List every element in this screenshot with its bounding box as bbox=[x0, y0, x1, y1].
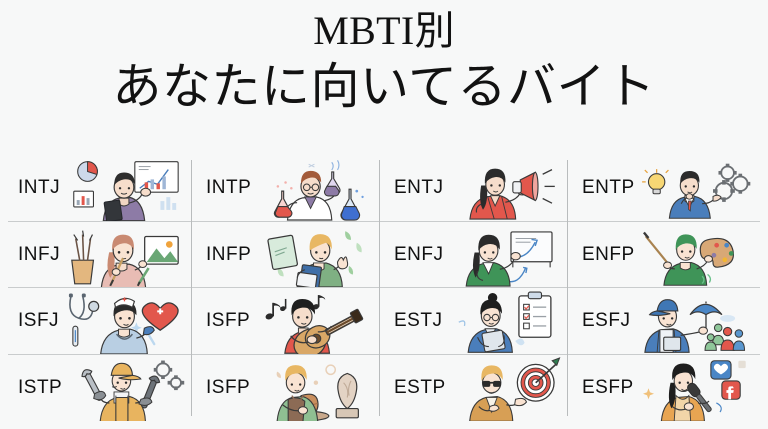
mbti-label: ISFP bbox=[206, 377, 250, 399]
illustration-performer-with-microphone bbox=[632, 355, 760, 422]
mbti-label: ESTJ bbox=[394, 310, 442, 332]
mbti-cell-enfj[interactable]: ENFJ bbox=[384, 222, 572, 289]
mbti-label: ISFJ bbox=[18, 310, 59, 332]
mbti-cell-estj[interactable]: ESTJ bbox=[384, 288, 572, 355]
title-line-1: MBTI別 bbox=[0, 6, 768, 56]
mbti-cell-isfj[interactable]: ISFJ bbox=[8, 288, 196, 355]
mbti-label: INFP bbox=[206, 244, 251, 266]
mbti-cell-esfj[interactable]: ESFJ bbox=[572, 288, 760, 355]
poster-title: MBTI別 あなたに向いてるバイト bbox=[0, 6, 768, 118]
mbti-cell-entj[interactable]: ENTJ bbox=[384, 155, 572, 222]
grid-divider-vertical-3 bbox=[567, 160, 568, 416]
illustration-painter-with-palette bbox=[633, 222, 760, 289]
mbti-cell-istp[interactable]: ISTP bbox=[8, 355, 196, 422]
grid-divider-vertical-1 bbox=[191, 160, 192, 416]
mbti-cell-intp[interactable]: INTP bbox=[196, 155, 384, 222]
mbti-label: INTP bbox=[206, 177, 251, 199]
illustration-analyst-with-charts bbox=[58, 155, 196, 222]
title-line-2: あなたに向いてるバイト bbox=[0, 56, 768, 118]
mbti-cell-isfp-guitar[interactable]: ISFP bbox=[196, 288, 384, 355]
mbti-cell-isfp-pottery[interactable]: ISFP bbox=[196, 355, 384, 422]
mbti-label: ENFJ bbox=[394, 244, 444, 266]
illustration-reader-with-books bbox=[249, 222, 384, 289]
illustration-manager-with-checklist bbox=[440, 288, 572, 355]
mbti-label: ESFJ bbox=[582, 310, 630, 332]
illustration-woman-with-megaphone bbox=[442, 155, 573, 222]
mbti-label: ENFP bbox=[582, 244, 635, 266]
mbti-grid: INTJ bbox=[8, 155, 760, 421]
mbti-cell-esfp[interactable]: ESFP bbox=[572, 355, 760, 422]
mbti-cell-infp[interactable]: INFP bbox=[196, 222, 384, 289]
mbti-label: ISFP bbox=[206, 310, 250, 332]
grid-divider-vertical-2 bbox=[379, 160, 380, 416]
mbti-label: INFJ bbox=[18, 244, 60, 266]
illustration-staff-with-umbrella bbox=[628, 288, 760, 355]
mbti-label: ENTJ bbox=[394, 177, 444, 199]
mbti-label: ESTP bbox=[394, 377, 446, 399]
illustration-potter-with-vase bbox=[248, 355, 384, 422]
mbti-label: ESFP bbox=[582, 377, 634, 399]
mbti-cell-enfp[interactable]: ENFP bbox=[572, 222, 760, 289]
illustration-guitarist bbox=[248, 288, 384, 355]
illustration-artist-with-picture-frame bbox=[58, 222, 196, 289]
illustration-nurse-with-heart bbox=[57, 288, 196, 355]
mbti-label: ISTP bbox=[18, 377, 62, 399]
mbti-cell-entp[interactable]: ENTP bbox=[572, 155, 760, 222]
illustration-idea-person-with-gears bbox=[633, 155, 760, 222]
illustration-mechanic-with-wrenches bbox=[60, 355, 196, 422]
poster: MBTI別 あなたに向いてるバイト INTJ bbox=[0, 0, 768, 429]
mbti-cell-intj[interactable]: INTJ bbox=[8, 155, 196, 222]
illustration-presenter-at-whiteboard bbox=[442, 222, 573, 289]
mbti-label: INTJ bbox=[18, 177, 60, 199]
illustration-salesman-with-target bbox=[444, 355, 572, 422]
mbti-label: ENTP bbox=[582, 177, 635, 199]
mbti-cell-estp[interactable]: ESTP bbox=[384, 355, 572, 422]
illustration-scientist-with-flasks bbox=[249, 155, 384, 222]
mbti-cell-infj[interactable]: INFJ bbox=[8, 222, 196, 289]
